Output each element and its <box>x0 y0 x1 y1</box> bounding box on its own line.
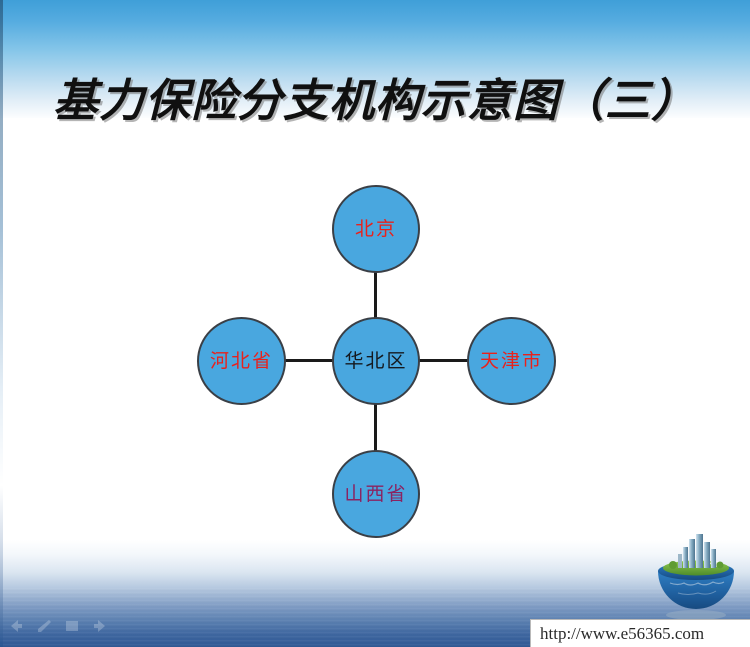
slideshow-nav-controls[interactable] <box>8 614 118 638</box>
node-hebei-label: 河北省 <box>210 352 273 371</box>
website-url-box: http://www.e56365.com <box>530 619 750 647</box>
presentation-slide: 基力保险分支机构示意图（三） 北京 河北省 华北区 天津市 山西省 <box>0 0 750 647</box>
connector-center-to-right <box>417 359 471 362</box>
pen-icon[interactable] <box>36 619 52 633</box>
org-chart-diagram: 北京 河北省 华北区 天津市 山西省 <box>0 0 750 647</box>
connector-center-to-left <box>280 359 334 362</box>
node-shanxi-label: 山西省 <box>344 485 407 504</box>
node-shanxi[interactable]: 山西省 <box>332 450 420 538</box>
back-arrow-icon[interactable] <box>8 619 24 633</box>
node-beijing[interactable]: 北京 <box>332 185 420 273</box>
connector-center-to-bottom <box>374 400 377 452</box>
forward-arrow-icon[interactable] <box>92 619 108 633</box>
website-url-text: http://www.e56365.com <box>540 624 704 644</box>
node-hebei[interactable]: 河北省 <box>197 317 286 405</box>
node-beijing-label: 北京 <box>355 220 397 239</box>
node-huabei-label: 华北区 <box>344 352 407 371</box>
page-icon[interactable] <box>64 619 80 633</box>
connector-center-to-top <box>374 268 377 320</box>
node-tianjin-label: 天津市 <box>480 352 543 371</box>
node-huabei-center[interactable]: 华北区 <box>332 317 420 405</box>
globe-city-logo <box>648 531 744 623</box>
node-tianjin[interactable]: 天津市 <box>467 317 556 405</box>
